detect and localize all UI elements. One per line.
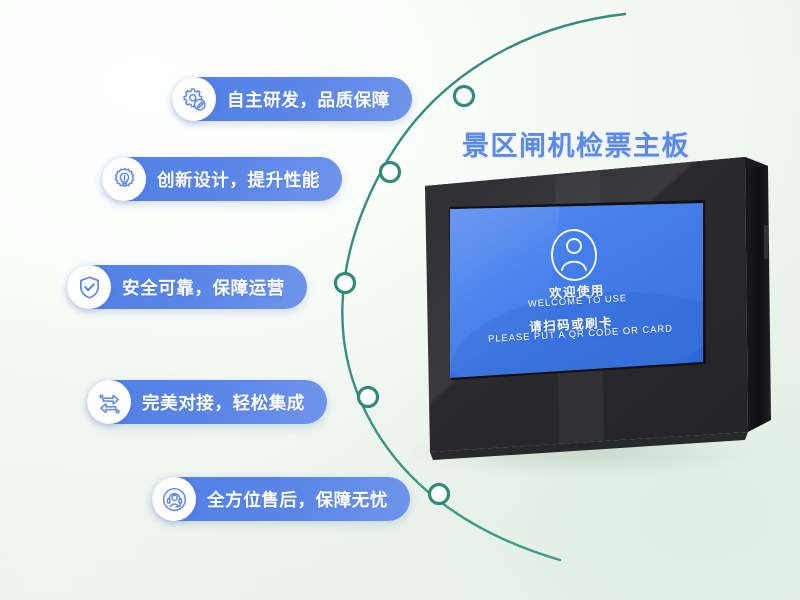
feature-pill-1[interactable]: 自主研发，品质保障 bbox=[172, 77, 412, 121]
product-title: 景区闸机检票主板 bbox=[462, 124, 690, 163]
feature-pill-2[interactable]: 创新设计，提升性能 bbox=[102, 157, 342, 201]
feature-pill-2-label: 创新设计，提升性能 bbox=[157, 167, 320, 192]
shield-check-icon bbox=[67, 265, 111, 309]
feature-pill-3[interactable]: 安全可靠，保障运营 bbox=[67, 265, 307, 309]
gear-bulb-icon bbox=[102, 157, 146, 201]
gear-pencil-icon bbox=[172, 77, 216, 121]
feature-pill-3-label: 安全可靠，保障运营 bbox=[122, 275, 285, 300]
feature-pill-4-label: 完美对接，轻松集成 bbox=[142, 390, 305, 415]
feature-pill-5[interactable]: 全方位售后，保障无忧 bbox=[152, 477, 410, 521]
headset-support-icon bbox=[152, 477, 196, 521]
feature-pill-1-label: 自主研发，品质保障 bbox=[227, 87, 390, 112]
two-way-arrows-icon bbox=[87, 380, 131, 424]
feature-pill-5-label: 全方位售后，保障无忧 bbox=[207, 487, 388, 512]
product-banner: 欢迎使用 WELCOME TO USE 请扫码或刷卡 PLEASE PUT A … bbox=[0, 0, 800, 600]
feature-pill-4[interactable]: 完美对接，轻松集成 bbox=[87, 380, 327, 424]
